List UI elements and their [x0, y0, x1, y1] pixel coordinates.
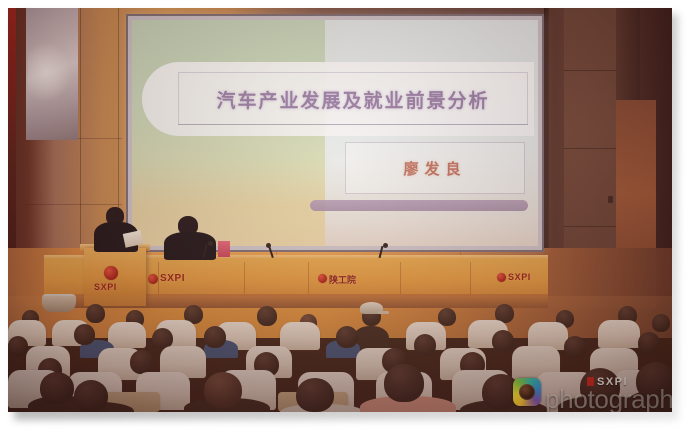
- pillar-seam: [564, 226, 616, 227]
- audience-person-head: [492, 330, 514, 352]
- table-microphone-head: [208, 241, 213, 246]
- audience-person-head: [414, 334, 436, 356]
- pillar-door-handle: [608, 196, 613, 203]
- lecture-hall-scene: 汽车产业发展及就业前景分析 廖发良: [8, 8, 672, 412]
- audience-person-head: [296, 378, 334, 412]
- audience-person-head: [336, 326, 358, 348]
- photo-frame: 汽车产业发展及就业前景分析 廖发良: [0, 0, 692, 434]
- podium-logo-text: SXPI: [94, 282, 117, 292]
- audience-person-head: [130, 350, 154, 374]
- table-logo-text-cn: 陕工院: [329, 273, 356, 286]
- audience-person-head: [74, 380, 108, 412]
- baseball-cap-brim: [378, 311, 389, 314]
- audience-person-head: [74, 324, 95, 345]
- panelist-name-card: [218, 241, 230, 257]
- camera-lens-inner-icon: [519, 384, 535, 400]
- audience-person-head: [204, 326, 226, 348]
- table-logo-mark: [497, 273, 506, 282]
- podium-logo-mark: [104, 266, 118, 280]
- table-microphone-head: [383, 243, 388, 248]
- table-microphone-head: [266, 243, 271, 248]
- panelist-body: [164, 232, 216, 260]
- chair: [598, 320, 640, 348]
- watermark-word: photography: [545, 384, 672, 412]
- wall-light-glow: [28, 42, 72, 102]
- table-logo-text: SXPI: [508, 272, 531, 282]
- audience-person-head: [564, 336, 586, 358]
- watermark: SXPI photography: [513, 376, 669, 412]
- audience-person-head: [204, 372, 242, 408]
- photograph: 汽车产业发展及就业前景分析 廖发良: [8, 8, 672, 412]
- table-logo-mark: [318, 274, 327, 283]
- audience-person-head: [638, 332, 660, 354]
- audience-person-head: [8, 336, 28, 356]
- chair: [108, 322, 146, 348]
- table-logo-mark: [148, 274, 158, 284]
- audience-person-head: [652, 314, 670, 332]
- audience-person-head: [86, 304, 105, 323]
- table-logo-text: SXPI: [160, 273, 185, 284]
- audience-person-head: [40, 372, 74, 404]
- camera-lens-icon: [513, 378, 541, 406]
- chair: [280, 322, 320, 350]
- audience-person-head: [257, 306, 277, 326]
- wall-seam: [26, 204, 122, 205]
- pillar-seam: [564, 148, 616, 149]
- pillar-seam: [564, 70, 616, 71]
- audience-person-head: [384, 364, 424, 402]
